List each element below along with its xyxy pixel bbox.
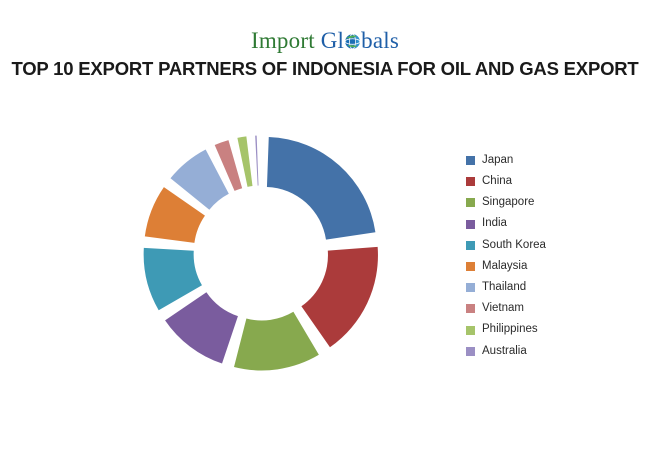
legend-label: Singapore [482,197,534,209]
legend-item[interactable]: South Korea [466,235,636,256]
legend-swatch-icon [466,347,475,356]
legend-label: Australia [482,346,527,358]
legend-swatch-icon [466,156,475,165]
brand-logo: Import Glbals [0,26,650,56]
logo-word-import: Import [251,28,315,53]
legend-swatch-icon [466,283,475,292]
donut-chart: JapanChinaSingaporeIndiaSouth KoreaMalay… [122,88,400,418]
logo-word-bals: bals [361,28,399,53]
donut-slice-india[interactable]: India [165,292,238,363]
donut-slice-japan[interactable]: Japan [267,137,375,240]
legend-label: Japan [482,155,513,167]
donut-slice-china[interactable]: China [301,247,378,347]
legend-label: Malaysia [482,261,527,273]
legend-label: Thailand [482,282,526,294]
legend-item[interactable]: Thailand [466,277,636,298]
legend-swatch-icon [466,326,475,335]
donut-slice-philippines[interactable]: Philippines [237,136,252,186]
legend-item[interactable]: Vietnam [466,298,636,319]
legend-swatch-icon [466,241,475,250]
chart-page: Import Glbals TOP 10 EXPORT PARTNERS OF … [0,0,650,450]
legend-swatch-icon [466,262,475,271]
donut-chart-svg: JapanChinaSingaporeIndiaSouth KoreaMalay… [122,88,400,418]
legend-swatch-icon [466,304,475,313]
legend-label: Vietnam [482,303,524,315]
legend-item[interactable]: India [466,214,636,235]
legend-label: India [482,218,507,230]
legend-swatch-icon [466,177,475,186]
legend-item[interactable]: Singapore [466,192,636,213]
legend-label: China [482,176,512,188]
chart-title: TOP 10 EXPORT PARTNERS OF INDONESIA FOR … [0,58,650,80]
legend-swatch-icon [466,198,475,207]
chart-legend: JapanChinaSingaporeIndiaSouth KoreaMalay… [466,150,636,362]
donut-slice-singapore[interactable]: Singapore [234,312,319,371]
legend-item[interactable]: Malaysia [466,256,636,277]
donut-slice-australia[interactable]: Australia [255,136,258,186]
legend-item[interactable]: Philippines [466,320,636,341]
legend-label: South Korea [482,240,546,252]
legend-item[interactable]: Australia [466,341,636,362]
donut-slice-south-korea[interactable]: South Korea [144,248,202,310]
legend-item[interactable]: China [466,171,636,192]
globe-icon [344,28,361,45]
legend-swatch-icon [466,220,475,229]
legend-item[interactable]: Japan [466,150,636,171]
legend-label: Philippines [482,324,538,336]
logo-word-gl: Gl [321,28,344,53]
logo-text: Import Glbals [251,26,399,56]
